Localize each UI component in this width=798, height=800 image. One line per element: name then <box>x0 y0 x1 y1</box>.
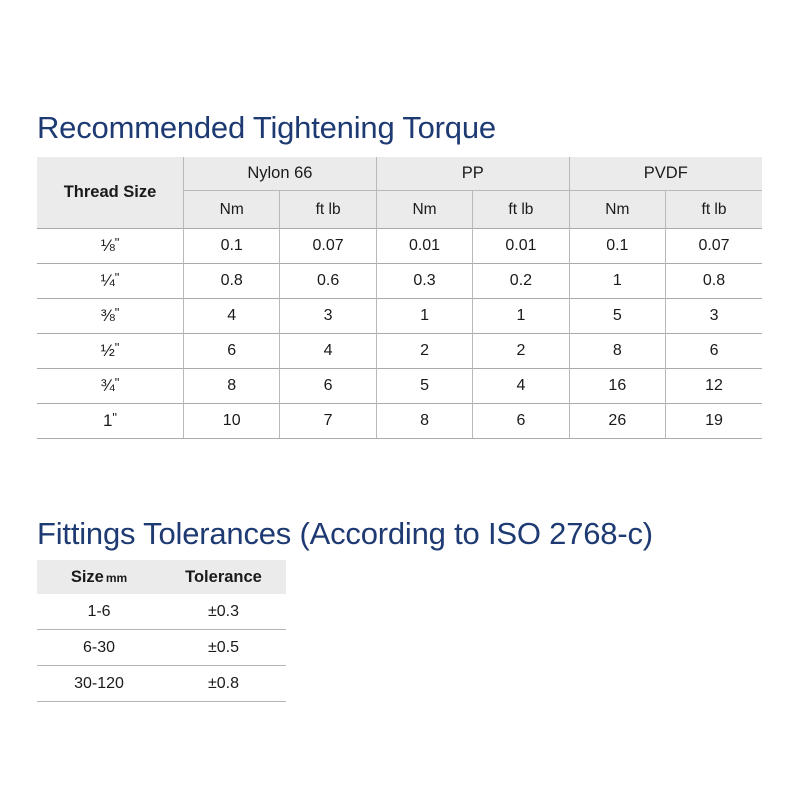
cell-size-range: 30-120 <box>37 666 161 702</box>
table-row: ¾"86541612 <box>37 369 762 404</box>
page-title-torque: Recommended Tightening Torque <box>37 111 496 145</box>
column-header-pvdf-ftlb: ft lb <box>666 191 762 229</box>
torque-header-row-groups: Thread Size Nylon 66 PP PVDF <box>37 157 762 191</box>
column-group-header-nylon-66: Nylon 66 <box>184 157 377 191</box>
fittings-tolerances-table: Sizemm Tolerance 1-6±0.36-30±0.530-120±0… <box>37 560 286 702</box>
cell-nylon66-nm: 0.1 <box>184 229 280 264</box>
torque-table-body: ⅛"0.10.070.010.010.10.07¼"0.80.60.30.210… <box>37 229 762 439</box>
column-header-size-label: Size <box>71 568 104 586</box>
inch-mark: " <box>115 375 120 390</box>
torque-table-head: Thread Size Nylon 66 PP PVDF Nm ft lb Nm… <box>37 157 762 229</box>
list-item: 1-6±0.3 <box>37 594 286 630</box>
cell-nylon66-ftlb: 3 <box>280 299 376 334</box>
cell-pvdf-ftlb: 0.8 <box>666 264 762 299</box>
thread-size-value: ⅜ <box>101 306 115 325</box>
thread-size-value: 1 <box>103 411 112 430</box>
table-row: ⅜"431153 <box>37 299 762 334</box>
inch-mark: " <box>115 305 120 320</box>
cell-thread-size: 1" <box>37 404 184 439</box>
cell-tolerance-value: ±0.8 <box>161 666 286 702</box>
column-header-pp-nm: Nm <box>376 191 472 229</box>
cell-pp-ftlb: 6 <box>473 404 569 439</box>
tolerance-header-row: Sizemm Tolerance <box>37 560 286 594</box>
cell-nylon66-ftlb: 0.6 <box>280 264 376 299</box>
cell-nylon66-nm: 0.8 <box>184 264 280 299</box>
cell-pp-ftlb: 0.2 <box>473 264 569 299</box>
cell-tolerance-value: ±0.3 <box>161 594 286 630</box>
cell-thread-size: ½" <box>37 334 184 369</box>
cell-tolerance-value: ±0.5 <box>161 630 286 666</box>
thread-size-value: ½ <box>101 341 115 360</box>
list-item: 30-120±0.8 <box>37 666 286 702</box>
cell-thread-size: ⅛" <box>37 229 184 264</box>
column-header-nylon66-nm: Nm <box>184 191 280 229</box>
cell-pvdf-nm: 8 <box>569 334 665 369</box>
cell-pvdf-ftlb: 6 <box>666 334 762 369</box>
cell-thread-size: ⅜" <box>37 299 184 334</box>
inch-mark: " <box>115 235 120 250</box>
column-header-nylon66-ftlb: ft lb <box>280 191 376 229</box>
cell-size-range: 1-6 <box>37 594 161 630</box>
cell-pp-nm: 0.3 <box>376 264 472 299</box>
tolerance-table-body: 1-6±0.36-30±0.530-120±0.8 <box>37 594 286 702</box>
cell-pvdf-ftlb: 12 <box>666 369 762 404</box>
cell-pp-nm: 5 <box>376 369 472 404</box>
cell-nylon66-nm: 6 <box>184 334 280 369</box>
table-row: 1"107862619 <box>37 404 762 439</box>
column-header-thread-size: Thread Size <box>37 157 184 229</box>
cell-pvdf-nm: 16 <box>569 369 665 404</box>
cell-nylon66-ftlb: 7 <box>280 404 376 439</box>
cell-pvdf-ftlb: 3 <box>666 299 762 334</box>
cell-nylon66-nm: 4 <box>184 299 280 334</box>
inch-mark: " <box>115 270 120 285</box>
thread-size-value: ¾ <box>101 376 115 395</box>
column-header-size-unit: mm <box>104 571 127 585</box>
cell-pvdf-nm: 1 <box>569 264 665 299</box>
cell-thread-size: ¾" <box>37 369 184 404</box>
inch-mark: " <box>112 410 117 425</box>
table-row: ¼"0.80.60.30.210.8 <box>37 264 762 299</box>
cell-nylon66-nm: 8 <box>184 369 280 404</box>
cell-pp-nm: 1 <box>376 299 472 334</box>
column-group-header-pvdf: PVDF <box>569 157 762 191</box>
column-header-pp-ftlb: ft lb <box>473 191 569 229</box>
table-row: ½"642286 <box>37 334 762 369</box>
thread-size-value: ⅛ <box>101 236 115 255</box>
cell-pvdf-ftlb: 0.07 <box>666 229 762 264</box>
cell-pp-ftlb: 0.01 <box>473 229 569 264</box>
cell-pvdf-ftlb: 19 <box>666 404 762 439</box>
thread-size-value: ¼ <box>101 271 115 290</box>
cell-pp-ftlb: 1 <box>473 299 569 334</box>
cell-size-range: 6-30 <box>37 630 161 666</box>
column-header-tolerance: Tolerance <box>161 560 286 594</box>
column-header-size: Sizemm <box>37 560 161 594</box>
cell-pp-nm: 2 <box>376 334 472 369</box>
inch-mark: " <box>115 340 120 355</box>
cell-nylon66-ftlb: 6 <box>280 369 376 404</box>
cell-pvdf-nm: 26 <box>569 404 665 439</box>
cell-pp-ftlb: 2 <box>473 334 569 369</box>
column-group-header-pp: PP <box>376 157 569 191</box>
table-row: ⅛"0.10.070.010.010.10.07 <box>37 229 762 264</box>
recommended-tightening-torque-table: Thread Size Nylon 66 PP PVDF Nm ft lb Nm… <box>37 157 762 439</box>
tolerance-table-head: Sizemm Tolerance <box>37 560 286 594</box>
page-title-tolerance: Fittings Tolerances (According to ISO 27… <box>37 517 653 551</box>
cell-pp-ftlb: 4 <box>473 369 569 404</box>
cell-nylon66-ftlb: 0.07 <box>280 229 376 264</box>
cell-pvdf-nm: 0.1 <box>569 229 665 264</box>
list-item: 6-30±0.5 <box>37 630 286 666</box>
cell-thread-size: ¼" <box>37 264 184 299</box>
tolerance-table-container: Sizemm Tolerance 1-6±0.36-30±0.530-120±0… <box>37 560 286 702</box>
column-header-pvdf-nm: Nm <box>569 191 665 229</box>
document-page: Recommended Tightening Torque Thread Siz… <box>0 0 798 800</box>
cell-pp-nm: 8 <box>376 404 472 439</box>
cell-pvdf-nm: 5 <box>569 299 665 334</box>
cell-nylon66-ftlb: 4 <box>280 334 376 369</box>
cell-pp-nm: 0.01 <box>376 229 472 264</box>
cell-nylon66-nm: 10 <box>184 404 280 439</box>
torque-table-container: Thread Size Nylon 66 PP PVDF Nm ft lb Nm… <box>37 157 762 439</box>
